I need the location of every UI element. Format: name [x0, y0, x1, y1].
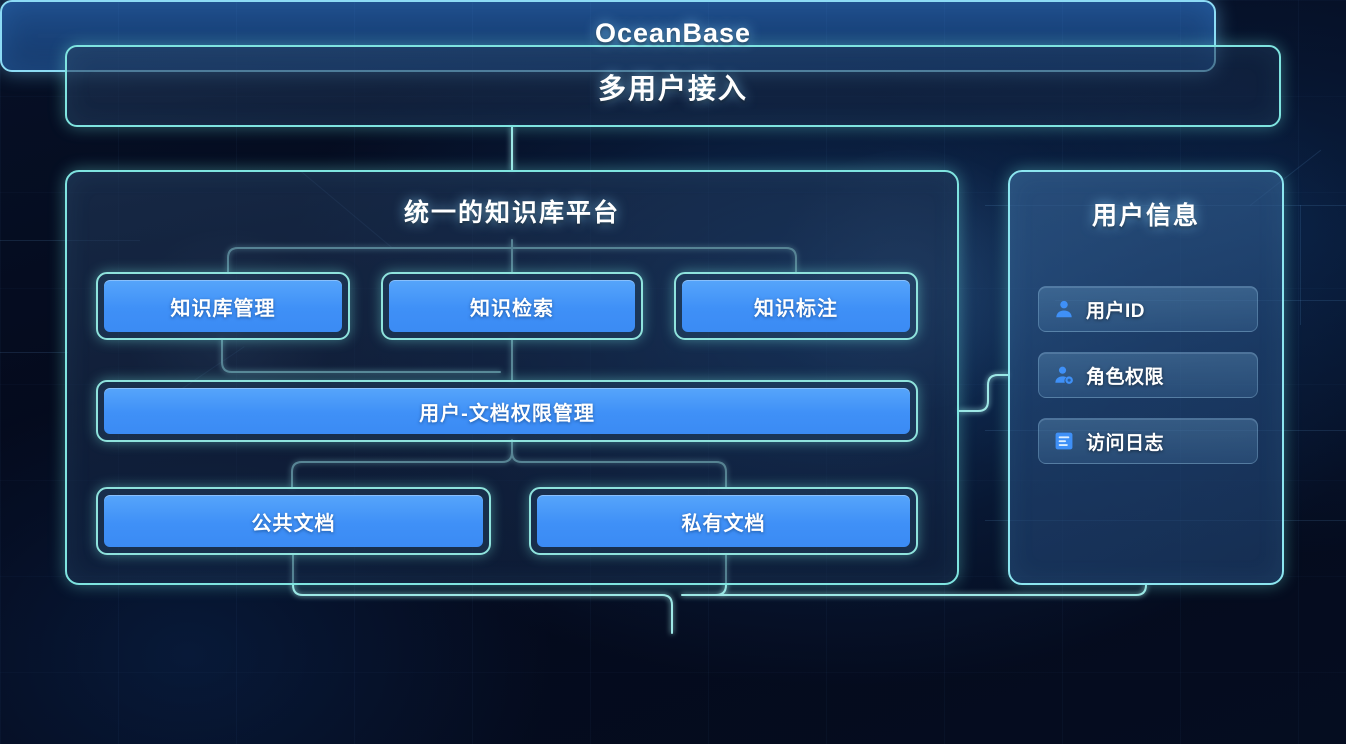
node-fill: 知识标注 — [682, 280, 910, 332]
user-info-item-user-id[interactable]: 用户ID — [1038, 286, 1258, 332]
multi-user-access-panel[interactable]: 多用户接入 — [65, 45, 1281, 127]
user-icon — [1053, 298, 1075, 320]
node-knowledge-annotation[interactable]: 知识标注 — [674, 272, 918, 340]
node-fill: 私有文档 — [537, 495, 910, 547]
document-log-icon — [1053, 430, 1075, 452]
node-label: 知识库管理 — [171, 292, 276, 321]
node-knowledge-retrieval[interactable]: 知识检索 — [381, 272, 643, 340]
bg-trace — [1300, 205, 1301, 325]
node-label: 私有文档 — [682, 507, 766, 536]
bg-trace — [0, 352, 68, 353]
node-fill: 公共文档 — [104, 495, 483, 547]
user-info-item-role-permission[interactable]: 角色权限 — [1038, 352, 1258, 398]
node-private-documents[interactable]: 私有文档 — [529, 487, 918, 555]
link-userinfo-to-ob — [692, 585, 1146, 595]
node-knowledge-base-management[interactable]: 知识库管理 — [96, 272, 350, 340]
node-label: 公共文档 — [252, 507, 336, 536]
node-user-document-permission[interactable]: 用户-文档权限管理 — [96, 380, 918, 442]
knowledge-platform-title: 统一的知识库平台 — [67, 193, 957, 229]
user-info-panel[interactable]: 用户信息 用户ID 角色权限 访问日志 — [1008, 170, 1284, 585]
node-label: 用户-文档权限管理 — [419, 397, 595, 426]
diagram-canvas: 多用户接入 统一的知识库平台 知识库管理 知识检索 知识标注 用户-文档权限管理… — [0, 0, 1346, 744]
user-info-item-label: 角色权限 — [1086, 362, 1164, 389]
user-info-item-label: 访问日志 — [1086, 428, 1164, 455]
node-fill: 知识检索 — [389, 280, 635, 332]
node-fill: 知识库管理 — [104, 280, 342, 332]
node-label: 知识检索 — [470, 292, 554, 321]
node-public-documents[interactable]: 公共文档 — [96, 487, 491, 555]
user-info-title: 用户信息 — [1010, 196, 1282, 232]
user-info-item-label: 用户ID — [1086, 296, 1145, 323]
user-role-icon — [1053, 364, 1075, 386]
node-label: 知识标注 — [754, 292, 838, 321]
node-fill: 用户-文档权限管理 — [104, 388, 910, 434]
link-perm-to-userinfo — [959, 375, 1008, 411]
multi-user-access-title: 多用户接入 — [67, 67, 1279, 107]
user-info-item-access-log[interactable]: 访问日志 — [1038, 418, 1258, 464]
